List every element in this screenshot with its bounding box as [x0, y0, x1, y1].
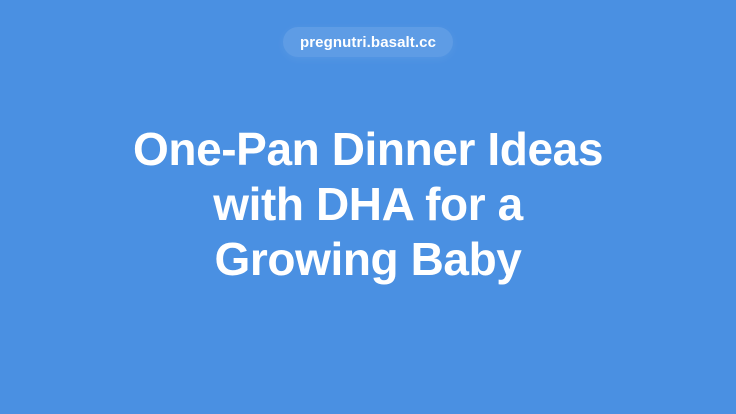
headline-line-3: Growing Baby	[48, 232, 688, 287]
site-domain-badge[interactable]: pregnutri.basalt.cc	[283, 27, 453, 57]
badge-row: pregnutri.basalt.cc	[0, 27, 736, 57]
poster-canvas: pregnutri.basalt.cc One-Pan Dinner Ideas…	[0, 0, 736, 414]
headline-line-2: with DHA for a	[48, 177, 688, 232]
site-domain-label: pregnutri.basalt.cc	[300, 35, 436, 50]
headline-block: One-Pan Dinner Ideas with DHA for a Grow…	[0, 122, 736, 287]
headline-line-1: One-Pan Dinner Ideas	[48, 122, 688, 177]
